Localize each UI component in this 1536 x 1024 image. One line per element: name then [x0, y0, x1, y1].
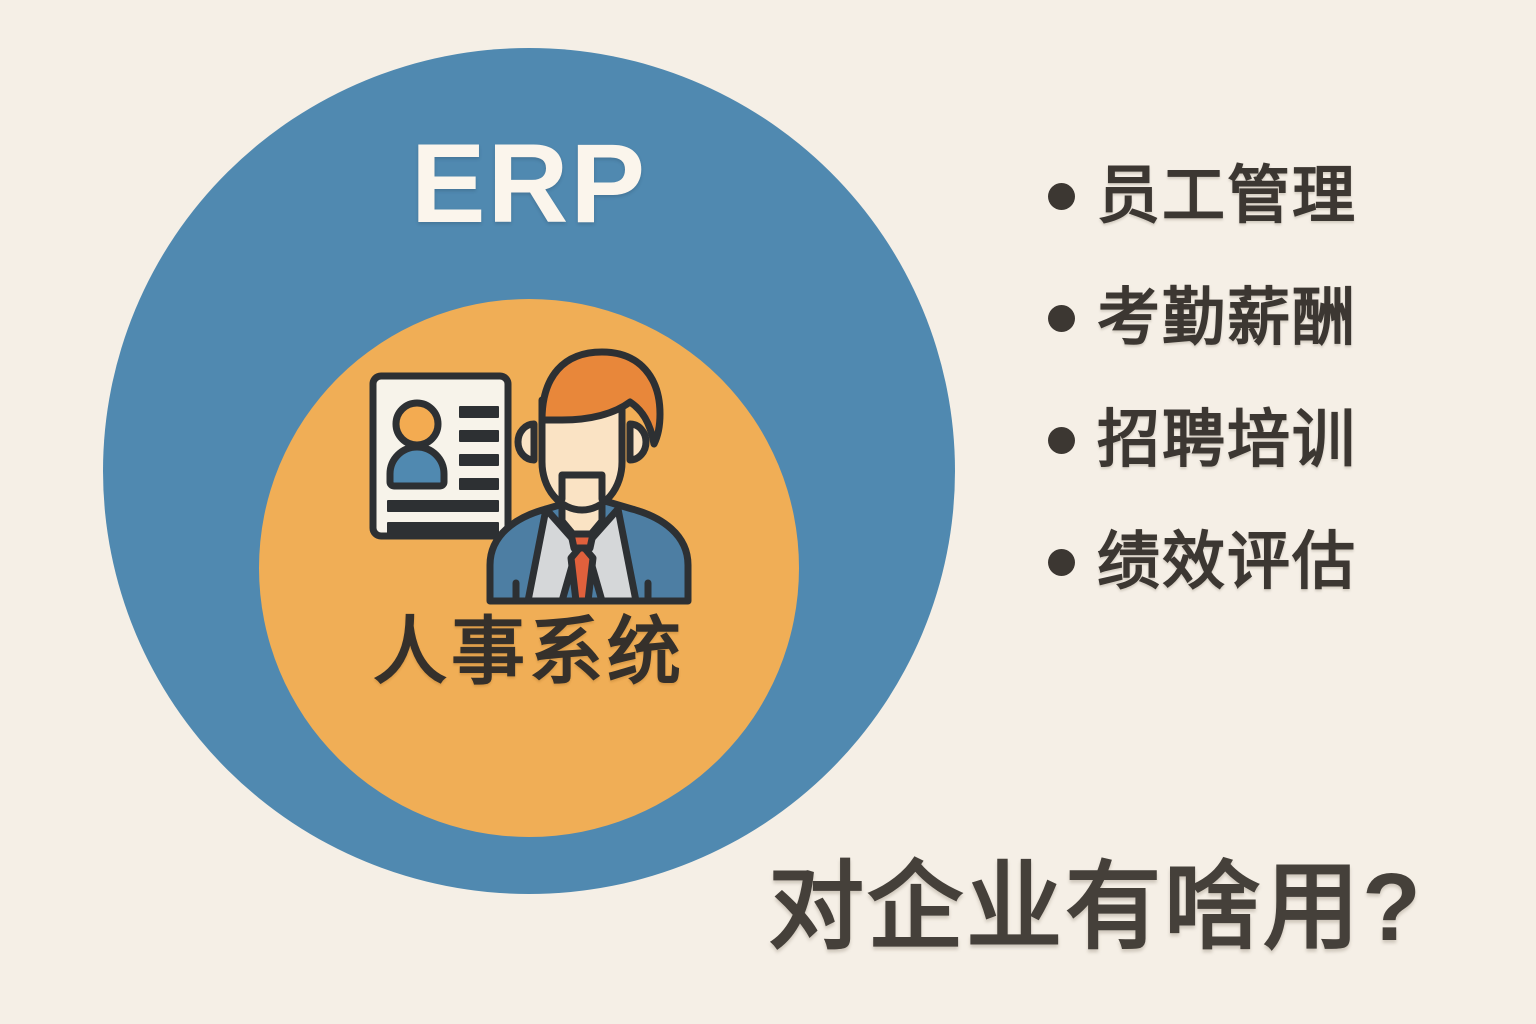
headline-question: 对企业有啥用? — [716, 856, 1476, 960]
feature-item-performance-evaluation: 绩效评估 — [1048, 518, 1478, 606]
bullet-dot-icon — [1048, 305, 1075, 332]
bullet-dot-icon — [1048, 427, 1075, 454]
feature-label: 绩效评估 — [1097, 527, 1357, 597]
hr-system-label: 人事系统 — [259, 612, 799, 692]
bullet-dot-icon — [1048, 183, 1075, 210]
feature-item-attendance-payroll: 考勤薪酬 — [1048, 274, 1478, 362]
feature-item-employee-management: 员工管理 — [1048, 152, 1478, 240]
feature-label: 员工管理 — [1097, 161, 1357, 231]
hr-employee-resume-icon — [366, 348, 696, 608]
poster-canvas: ERP — [0, 0, 1536, 1024]
feature-list: 员工管理 考勤薪酬 招聘培训 绩效评估 — [1048, 152, 1478, 640]
feature-label: 考勤薪酬 — [1097, 283, 1357, 353]
erp-title: ERP — [103, 128, 955, 240]
feature-label: 招聘培训 — [1097, 405, 1357, 475]
bullet-dot-icon — [1048, 549, 1075, 576]
feature-item-recruitment-training: 招聘培训 — [1048, 396, 1478, 484]
